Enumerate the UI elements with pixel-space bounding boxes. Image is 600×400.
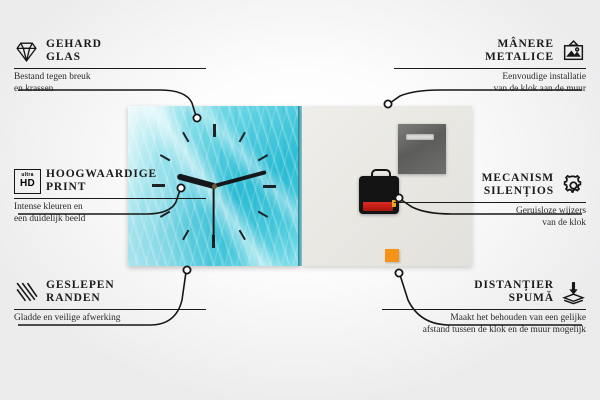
callout-gehard-glas[interactable]: GEHARDGLAS Bestand tegen breuken krassen (14, 38, 206, 95)
clock-second-hand (213, 186, 215, 242)
callout-title: GEHARDGLAS (46, 38, 102, 64)
callout-title: MÂNEREMETALICE (485, 38, 554, 64)
quartz-mechanism-part (359, 176, 399, 214)
ultra-hd-icon: ultra HD (14, 169, 39, 194)
callout-rule (394, 68, 586, 69)
callout-subtitle: Eenvoudige installatievan de klok aan de… (394, 72, 586, 95)
callout-rule (14, 198, 206, 199)
callout-header: DISTANȚIERSPUMĂ (382, 279, 586, 305)
picture-frame-icon (561, 39, 586, 64)
callout-header: GESLEPENRANDEN (14, 279, 206, 305)
callout-rule (382, 309, 586, 310)
foam-spacer-part (385, 249, 399, 262)
callout-subtitle: Bestand tegen breuken krassen (14, 72, 206, 95)
callout-title: DISTANȚIERSPUMĂ (474, 279, 554, 305)
callout-title: HOOGWAARDIGEPRINT (46, 168, 157, 194)
callout-geslepen-randen[interactable]: GESLEPENRANDEN Gladde en veilige afwerki… (14, 279, 206, 325)
hd-label: HD (20, 179, 35, 189)
clock-hand-cap (212, 184, 217, 189)
hanger-slot (406, 134, 434, 140)
diamond-icon (14, 39, 39, 64)
spacer-arrow-icon (561, 280, 586, 305)
mechanism-loop (371, 169, 391, 180)
gear-icon (561, 173, 586, 198)
callout-header: GEHARDGLAS (14, 38, 206, 64)
callout-title: GESLEPENRANDEN (46, 279, 115, 305)
callout-header: MÂNEREMETALICE (394, 38, 586, 64)
callout-rule (14, 309, 206, 310)
callout-manere-metalice[interactable]: MÂNEREMETALICE Eenvoudige installatievan… (394, 38, 586, 95)
battery (363, 202, 393, 211)
callout-distantier-spuma[interactable]: DISTANȚIERSPUMĂ Maakt het behouden van e… (382, 279, 586, 336)
callout-rule (14, 68, 206, 69)
infographic-stage: GEHARDGLAS Bestand tegen breuken krassen… (0, 0, 600, 400)
callout-hoogwaardige-print[interactable]: ultra HD HOOGWAARDIGEPRINT Intense kleur… (14, 168, 206, 225)
callout-title: MECANISMSILENȚIOS (482, 172, 554, 198)
bevelled-edges-icon (14, 280, 39, 305)
callout-subtitle: Maakt het behouden van een gelijkeafstan… (382, 313, 586, 336)
callout-subtitle: Geruisloze wijzersvan de klok (394, 206, 586, 229)
callout-subtitle: Gladde en veilige afwerking (14, 313, 206, 325)
callout-rule (394, 202, 586, 203)
callout-header: MECANISMSILENȚIOS (394, 172, 586, 198)
callout-subtitle: Intense kleuren eneen duidelijk beeld (14, 202, 206, 225)
callout-header: ultra HD HOOGWAARDIGEPRINT (14, 168, 206, 194)
callout-mecanism-silentios[interactable]: MECANISMSILENȚIOS Geruisloze wijzersvan … (394, 172, 586, 229)
metal-hanger-part (398, 124, 446, 174)
clock-tick (213, 124, 215, 186)
